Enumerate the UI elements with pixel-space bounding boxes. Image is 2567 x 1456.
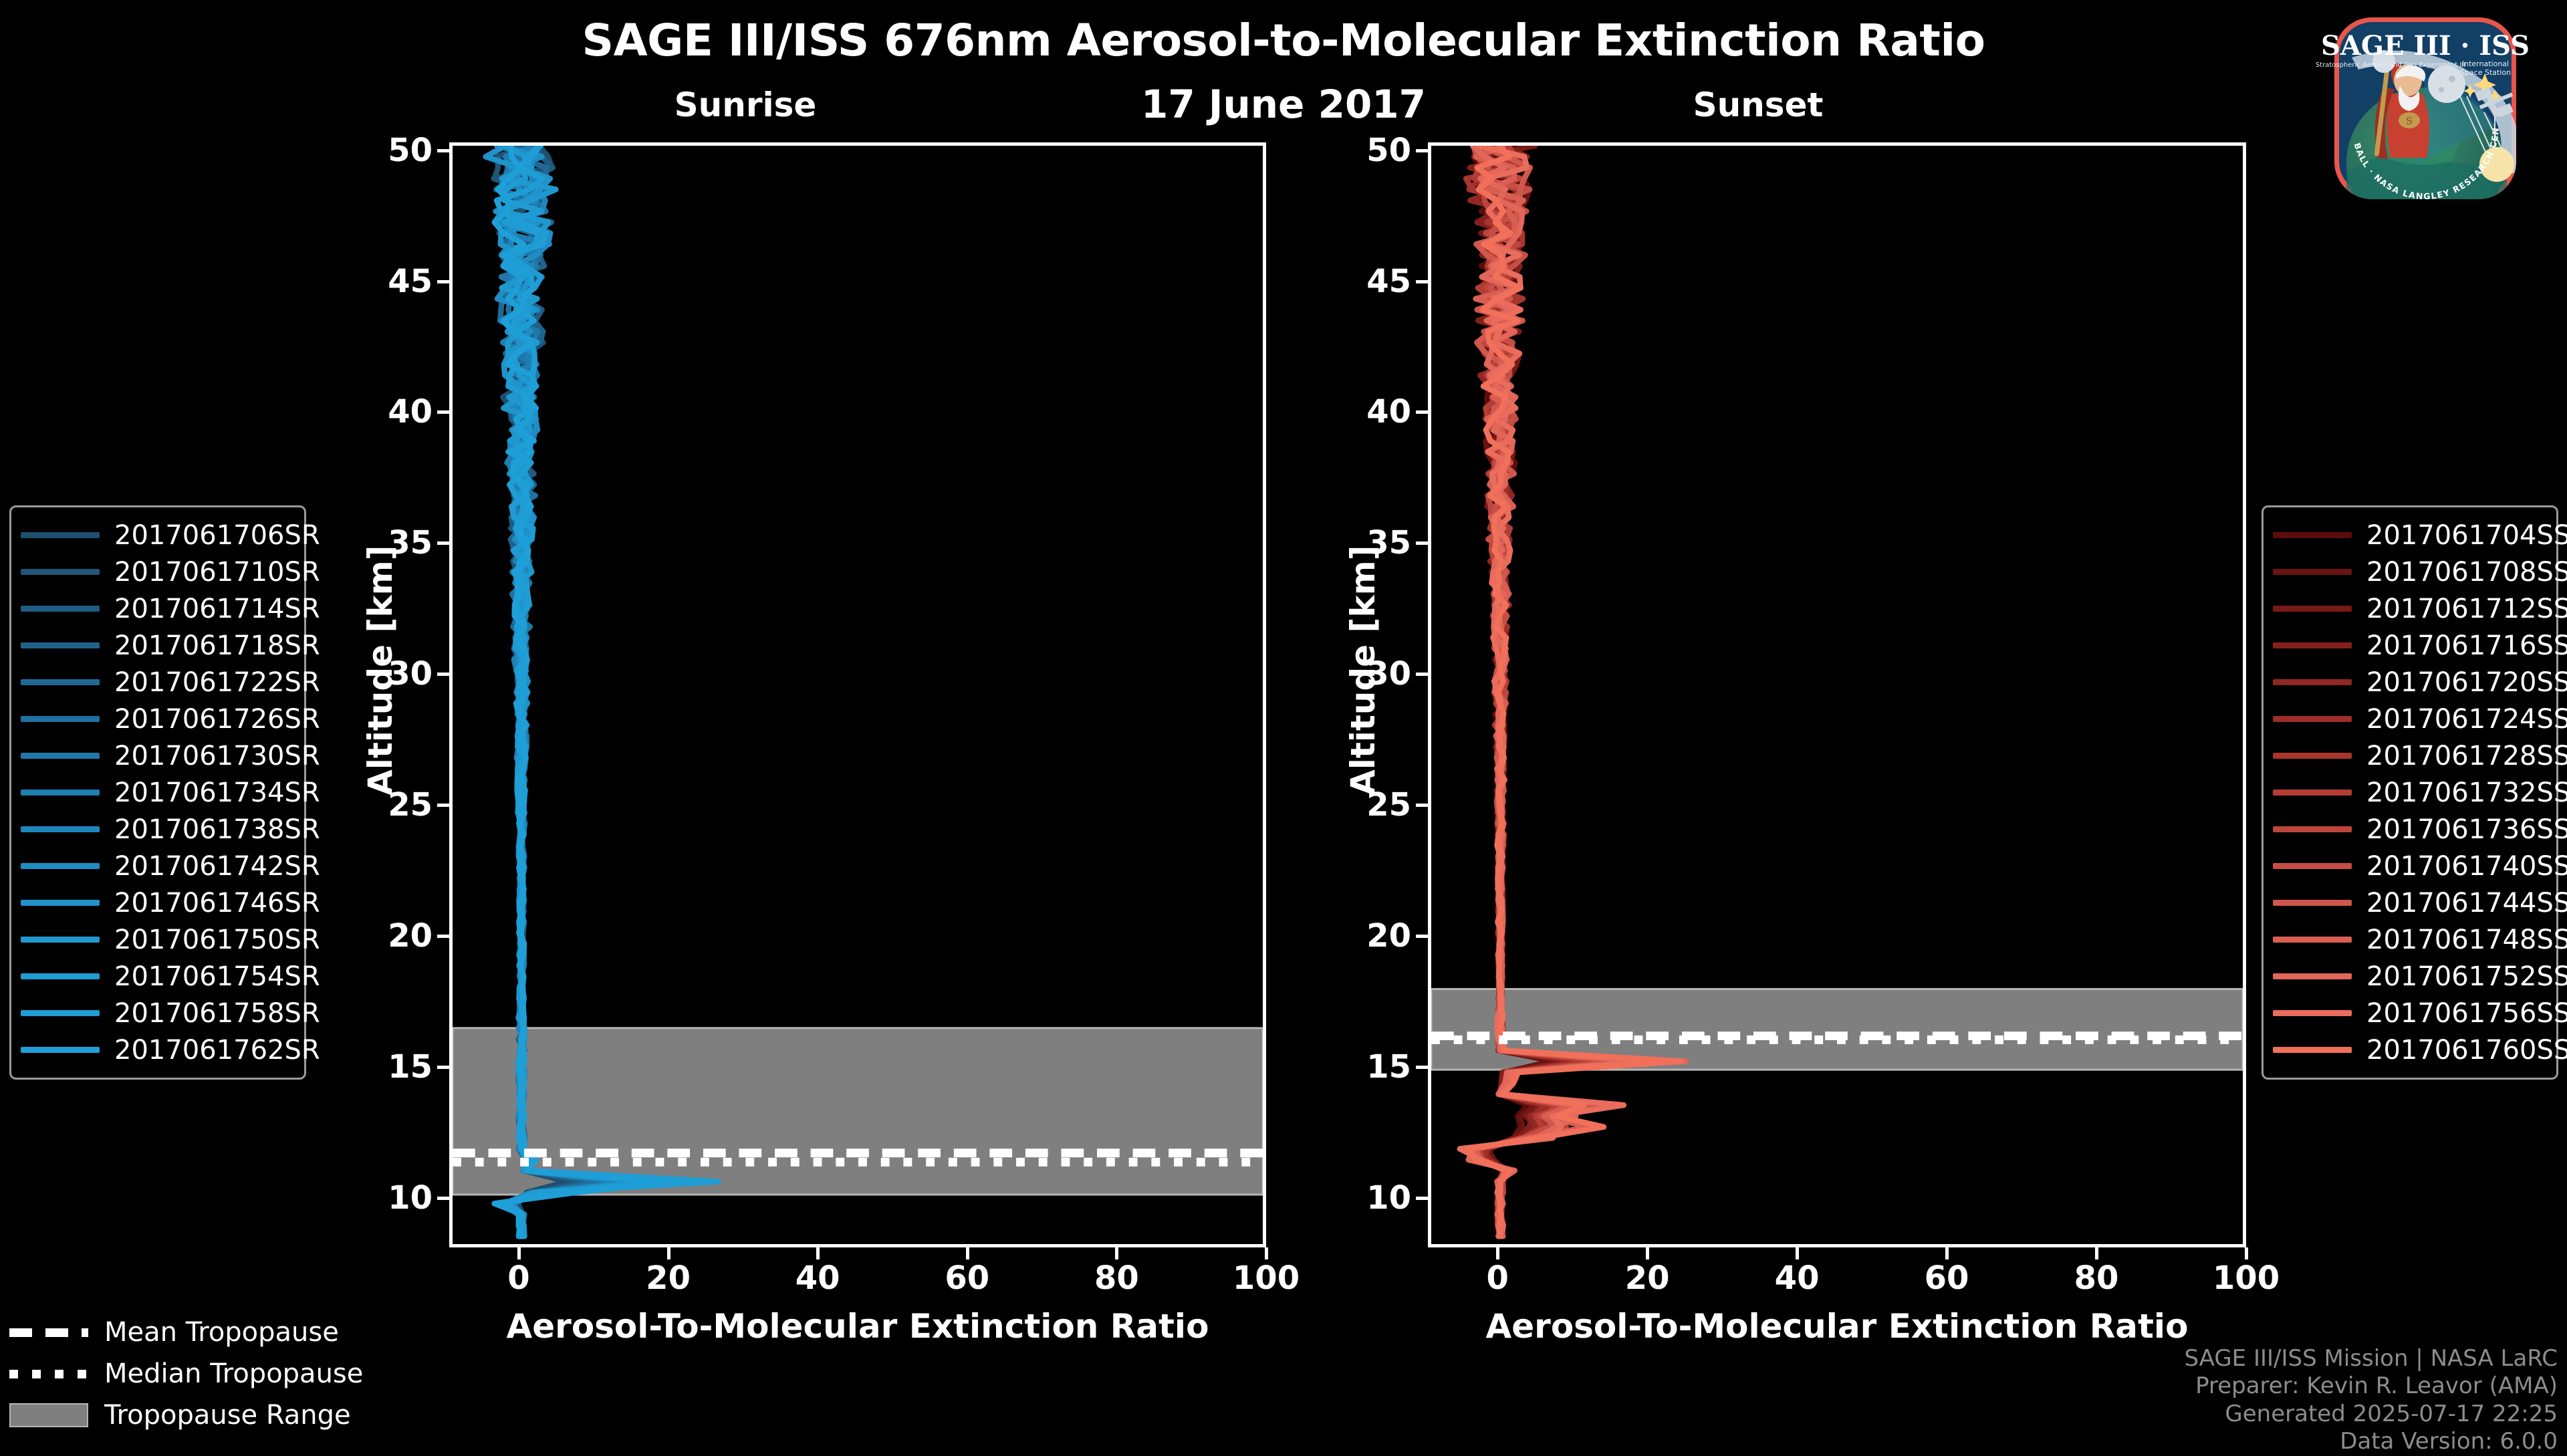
- svg-text:S: S: [2406, 115, 2413, 127]
- y-axis-tick-mark: [437, 673, 449, 676]
- legend-color-swatch: [2273, 532, 2352, 538]
- x-axis-tick-mark: [1796, 1247, 1799, 1259]
- x-axis-tick-label: 0: [1441, 1259, 1554, 1297]
- legend-item-label: 2017061748SS: [2366, 925, 2567, 955]
- y-axis-tick-label: 25: [332, 786, 433, 824]
- y-axis-tick-label: 15: [332, 1048, 433, 1086]
- x-axis-tick-mark: [966, 1247, 969, 1259]
- y-axis-tick-mark: [437, 541, 449, 545]
- y-axis-tick-mark: [437, 1197, 449, 1200]
- legend-color-swatch: [2273, 937, 2352, 943]
- legend-item-label: 2017061756SS: [2366, 998, 2567, 1029]
- legend-item-label: 2017061728SS: [2366, 741, 2567, 771]
- legend-item[interactable]: 2017061726SR: [21, 701, 292, 737]
- y-axis-tick-mark: [437, 280, 449, 283]
- x-axis-tick-label: 40: [1740, 1259, 1854, 1297]
- y-axis-tick-mark: [1416, 673, 1428, 676]
- footer-line-preparer: Preparer: Kevin R. Leavor (AMA): [2184, 1372, 2558, 1400]
- x-axis-tick-label: 100: [2189, 1259, 2303, 1297]
- y-axis-tick-mark: [1416, 1066, 1428, 1069]
- legend-item[interactable]: 2017061710SR: [21, 554, 292, 590]
- legend-item[interactable]: 2017061706SR: [21, 517, 292, 554]
- legend-item[interactable]: 2017061704SS: [2273, 517, 2544, 554]
- tropopause-legend: Mean Tropopause Median Tropopause Tropop…: [9, 1312, 363, 1436]
- y-axis-tick-label: 30: [1311, 655, 1411, 693]
- x-axis-tick-label: 0: [462, 1259, 576, 1297]
- legend-item-label: 2017061762SR: [114, 1035, 320, 1066]
- legend-color-swatch: [2273, 1047, 2352, 1053]
- legend-item-label: 2017061708SS: [2366, 557, 2567, 588]
- y-axis-tick-label: 10: [1311, 1179, 1411, 1217]
- page-title: SAGE III/ISS 676nm Aerosol-to-Molecular …: [0, 15, 2567, 66]
- legend-item[interactable]: 2017061762SR: [21, 1032, 292, 1068]
- legend-item-label: 2017061716SS: [2366, 630, 2567, 661]
- y-axis-tick-label: 30: [332, 655, 433, 693]
- legend-item[interactable]: 2017061732SS: [2273, 774, 2544, 811]
- x-axis-tick-label: 80: [1060, 1259, 1173, 1297]
- sunset-legend: 2017061704SS2017061708SS2017061712SS2017…: [2262, 505, 2558, 1080]
- legend-color-swatch: [2273, 569, 2352, 575]
- median-tropopause-label: Median Tropopause: [104, 1358, 363, 1389]
- x-axis-tick-label: 20: [1590, 1259, 1704, 1297]
- legend-color-swatch: [21, 1010, 100, 1016]
- legend-color-swatch: [21, 569, 100, 575]
- legend-item[interactable]: 2017061760SS: [2273, 1032, 2544, 1068]
- legend-item[interactable]: 2017061708SS: [2273, 554, 2544, 590]
- legend-item[interactable]: 2017061714SR: [21, 590, 292, 627]
- footer-line-generated: Generated 2025-07-17 22:25: [2184, 1401, 2558, 1428]
- legend-item[interactable]: 2017061740SS: [2273, 848, 2544, 884]
- legend-color-swatch: [21, 973, 100, 979]
- y-axis-tick-mark: [437, 804, 449, 807]
- sunrise-legend: 2017061706SR2017061710SR2017061714SR2017…: [9, 505, 306, 1080]
- y-axis-tick-label: 15: [1311, 1048, 1411, 1086]
- legend-item[interactable]: 2017061748SS: [2273, 921, 2544, 958]
- sunrise-plot-svg: [453, 146, 1263, 1244]
- legend-item[interactable]: 2017061742SR: [21, 848, 292, 884]
- legend-item-label: 2017061752SS: [2366, 961, 2567, 992]
- legend-item-label: 2017061732SS: [2366, 777, 2567, 808]
- x-axis-tick-mark: [517, 1247, 521, 1259]
- y-axis-tick-mark: [437, 410, 449, 414]
- tropopause-range-band: [453, 1028, 1263, 1195]
- legend-item[interactable]: 2017061752SS: [2273, 958, 2544, 995]
- legend-item-label: 2017061712SS: [2366, 594, 2567, 624]
- legend-color-swatch: [21, 606, 100, 612]
- y-axis-tick-mark: [1416, 149, 1428, 152]
- legend-item-label: 2017061710SR: [114, 557, 320, 588]
- legend-color-swatch: [21, 900, 100, 906]
- sunrise-plot-area: [449, 142, 1266, 1247]
- legend-item-label: 2017061720SS: [2366, 667, 2567, 698]
- legend-row-mean-tropopause: Mean Tropopause: [9, 1312, 363, 1353]
- legend-item-label: 2017061704SS: [2366, 520, 2567, 551]
- sage-iii-iss-logo-svg: S SAGE III · ISS Stratospheric Aerosol a…: [2294, 5, 2556, 199]
- legend-color-swatch: [21, 863, 100, 869]
- logo-title: SAGE III · ISS: [2321, 30, 2530, 62]
- y-axis-tick-label: 35: [332, 524, 433, 562]
- x-axis-tick-mark: [2095, 1247, 2098, 1259]
- legend-item-label: 2017061754SR: [114, 961, 320, 992]
- legend-item[interactable]: 2017061730SR: [21, 737, 292, 774]
- legend-item-label: 2017061758SR: [114, 998, 320, 1029]
- x-axis-tick-mark: [667, 1247, 670, 1259]
- median-tropopause-swatch: [9, 1365, 88, 1382]
- y-axis-tick-mark: [1416, 541, 1428, 545]
- legend-row-tropopause-range: Tropopause Range: [9, 1394, 363, 1436]
- legend-row-median-tropopause: Median Tropopause: [9, 1353, 363, 1394]
- sunrise-panel-title: Sunrise: [605, 86, 886, 124]
- x-axis-tick-mark: [1496, 1247, 1499, 1259]
- legend-item-label: 2017061718SR: [114, 630, 320, 661]
- legend-item-label: 2017061726SR: [114, 704, 320, 735]
- x-axis-tick-mark: [1945, 1247, 1949, 1259]
- legend-color-swatch: [21, 532, 100, 538]
- legend-color-swatch: [2273, 790, 2352, 796]
- legend-item-label: 2017061740SS: [2366, 851, 2567, 882]
- y-axis-tick-label: 45: [1311, 263, 1411, 300]
- sunset-x-axis-label: Aerosol-To-Molecular Extinction Ratio: [1428, 1307, 2246, 1346]
- legend-item-label: 2017061742SR: [114, 851, 320, 882]
- legend-item[interactable]: 2017061736SS: [2273, 811, 2544, 848]
- x-axis-tick-label: 60: [1890, 1259, 2003, 1297]
- legend-item[interactable]: 2017061716SS: [2273, 627, 2544, 664]
- y-axis-tick-mark: [1416, 280, 1428, 283]
- logo-subtitle-iss-2: Space Station: [2460, 68, 2511, 77]
- x-axis-tick-label: 20: [612, 1259, 725, 1297]
- legend-item[interactable]: 2017061728SS: [2273, 737, 2544, 774]
- y-axis-tick-label: 20: [332, 917, 433, 955]
- legend-item[interactable]: 2017061758SR: [21, 995, 292, 1032]
- legend-color-swatch: [21, 679, 100, 685]
- legend-item[interactable]: 2017061746SR: [21, 884, 292, 921]
- x-axis-tick-mark: [2245, 1247, 2248, 1259]
- legend-item[interactable]: 2017061744SS: [2273, 884, 2544, 921]
- legend-item[interactable]: 2017061720SS: [2273, 664, 2544, 701]
- y-axis-tick-label: 35: [1311, 524, 1411, 562]
- legend-item[interactable]: 2017061756SS: [2273, 995, 2544, 1032]
- y-axis-tick-label: 50: [1311, 132, 1411, 169]
- y-axis-tick-label: 45: [332, 263, 433, 300]
- footer-line-mission: SAGE III/ISS Mission | NASA LaRC: [2184, 1345, 2558, 1372]
- x-axis-tick-label: 80: [2040, 1259, 2153, 1297]
- x-axis-tick-label: 40: [761, 1259, 874, 1297]
- legend-color-swatch: [2273, 973, 2352, 979]
- legend-item[interactable]: 2017061754SR: [21, 958, 292, 995]
- legend-item[interactable]: 2017061712SS: [2273, 590, 2544, 627]
- sunset-plot-svg: [1431, 146, 2243, 1244]
- legend-item-label: 2017061744SS: [2366, 888, 2567, 919]
- sunset-panel-title: Sunset: [1618, 86, 1899, 124]
- legend-item[interactable]: 2017061718SR: [21, 627, 292, 664]
- legend-color-swatch: [2273, 863, 2352, 869]
- logo-subtitle-iss-1: International: [2462, 59, 2509, 68]
- legend-item-label: 2017061706SR: [114, 520, 320, 551]
- sunrise-x-axis-label: Aerosol-To-Molecular Extinction Ratio: [449, 1307, 1266, 1346]
- y-axis-tick-mark: [1416, 935, 1428, 938]
- legend-color-swatch: [2273, 753, 2352, 759]
- legend-item-label: 2017061724SS: [2366, 704, 2567, 735]
- y-axis-tick-mark: [437, 935, 449, 938]
- y-axis-tick-mark: [437, 149, 449, 152]
- tropopause-range-swatch: [9, 1407, 88, 1424]
- footer-line-version: Data Version: 6.0.0: [2184, 1428, 2558, 1455]
- legend-color-swatch: [21, 937, 100, 943]
- y-axis-tick-label: 25: [1311, 786, 1411, 824]
- legend-color-swatch: [2273, 1010, 2352, 1016]
- x-axis-tick-mark: [1646, 1247, 1649, 1259]
- legend-color-swatch: [2273, 642, 2352, 648]
- legend-item[interactable]: 2017061724SS: [2273, 701, 2544, 737]
- x-axis-tick-label: 100: [1209, 1259, 1323, 1297]
- y-axis-tick-mark: [1416, 1197, 1428, 1200]
- y-axis-tick-label: 40: [332, 393, 433, 431]
- legend-color-swatch: [21, 790, 100, 796]
- legend-color-swatch: [2273, 606, 2352, 612]
- legend-item[interactable]: 2017061750SR: [21, 921, 292, 958]
- legend-color-swatch: [21, 642, 100, 648]
- y-axis-tick-label: 40: [1311, 393, 1411, 431]
- legend-item-label: 2017061722SR: [114, 667, 320, 698]
- page-subtitle: 17 June 2017: [0, 82, 2567, 127]
- x-axis-tick-mark: [1115, 1247, 1118, 1259]
- legend-item-label: 2017061734SR: [114, 777, 320, 808]
- x-axis-tick-mark: [1265, 1247, 1268, 1259]
- legend-item-label: 2017061746SR: [114, 888, 320, 919]
- mean-tropopause-swatch: [9, 1324, 88, 1341]
- legend-item[interactable]: 2017061734SR: [21, 774, 292, 811]
- legend-item-label: 2017061750SR: [114, 925, 320, 955]
- legend-color-swatch: [21, 1047, 100, 1053]
- legend-color-swatch: [21, 826, 100, 832]
- y-axis-tick-label: 20: [1311, 917, 1411, 955]
- legend-item-label: 2017061730SR: [114, 741, 320, 771]
- tropopause-range-label: Tropopause Range: [104, 1400, 351, 1431]
- legend-color-swatch: [21, 753, 100, 759]
- x-axis-tick-label: 60: [910, 1259, 1024, 1297]
- legend-color-swatch: [2273, 900, 2352, 906]
- legend-item-label: 2017061714SR: [114, 594, 320, 624]
- y-axis-tick-mark: [1416, 804, 1428, 807]
- mean-tropopause-label: Mean Tropopause: [104, 1317, 339, 1348]
- legend-item-label: 2017061738SR: [114, 814, 320, 845]
- x-axis-tick-mark: [816, 1247, 820, 1259]
- y-axis-tick-mark: [437, 1066, 449, 1069]
- logo-subtitle-expansion: Stratospheric Aerosol and Gas Experiment…: [2316, 62, 2465, 69]
- sage-iii-iss-logo: S SAGE III · ISS Stratospheric Aerosol a…: [2294, 5, 2556, 199]
- legend-item-label: 2017061736SS: [2366, 814, 2567, 845]
- footer-credits: SAGE III/ISS Mission | NASA LaRC Prepare…: [2184, 1345, 2558, 1456]
- legend-item[interactable]: 2017061722SR: [21, 664, 292, 701]
- legend-item[interactable]: 2017061738SR: [21, 811, 292, 848]
- y-axis-tick-label: 10: [332, 1179, 433, 1217]
- y-axis-tick-label: 50: [332, 132, 433, 169]
- legend-color-swatch: [21, 716, 100, 722]
- legend-color-swatch: [2273, 716, 2352, 722]
- y-axis-tick-mark: [1416, 410, 1428, 414]
- legend-color-swatch: [2273, 826, 2352, 832]
- legend-item-label: 2017061760SS: [2366, 1035, 2567, 1066]
- sunset-plot-area: [1428, 142, 2246, 1247]
- legend-color-swatch: [2273, 679, 2352, 685]
